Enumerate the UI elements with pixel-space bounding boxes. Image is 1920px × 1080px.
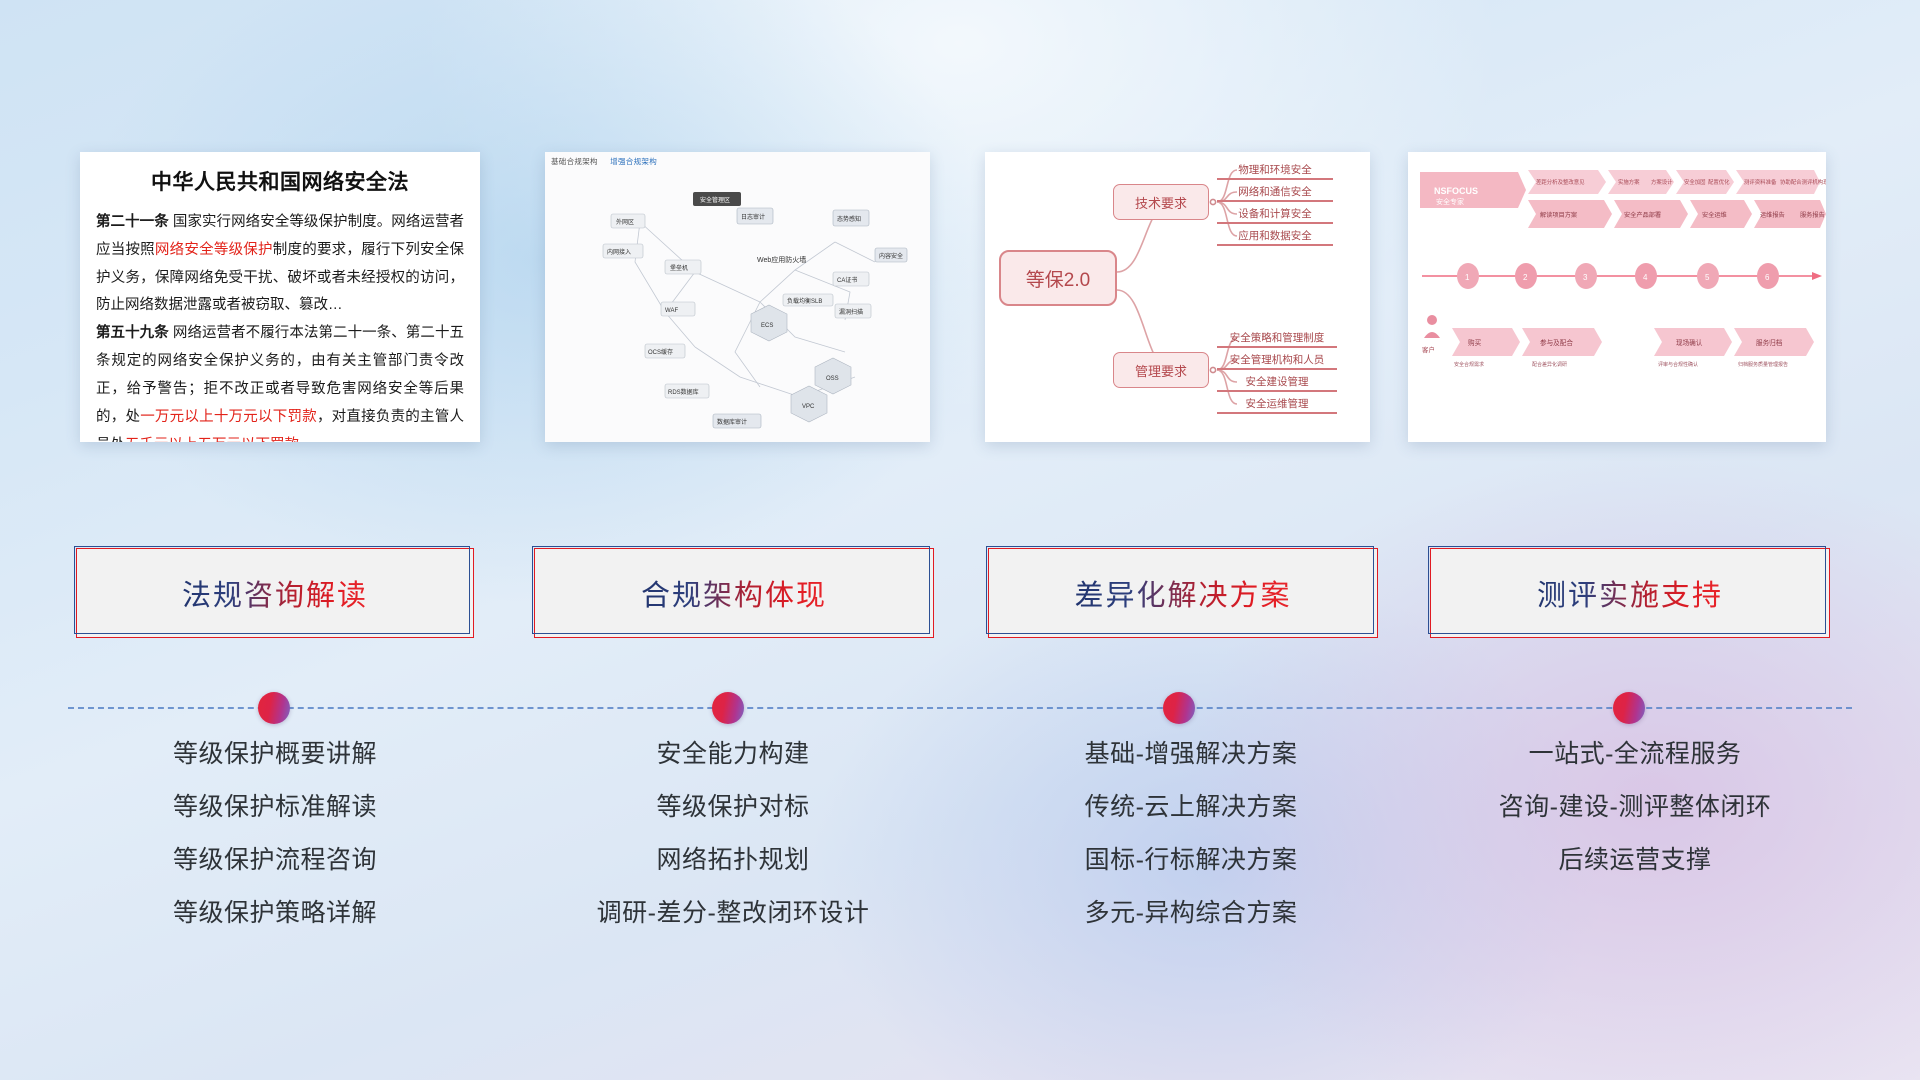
law-card: 中华人民共和国网络安全法 第二十一条 国家实行网络安全等级保护制度。网络运营者应… <box>80 152 480 442</box>
svg-text:协助配合测评机构现场测评: 协助配合测评机构现场测评 <box>1780 178 1826 186</box>
timeline-dashed-line <box>68 707 1852 709</box>
svg-text:方案设计: 方案设计 <box>1651 178 1673 186</box>
mindmap-branch-mgmt: 管理要求 <box>1113 352 1209 388</box>
svg-text:内容安全: 内容安全 <box>879 252 903 260</box>
card-row: 中华人民共和国网络安全法 第二十一条 国家实行网络安全等级保护制度。网络运营者应… <box>0 0 1920 460</box>
article-number: 第二十一条 <box>96 214 169 230</box>
mindmap-leaf: 网络和通信安全 <box>1217 184 1333 202</box>
svg-text:6: 6 <box>1765 273 1770 282</box>
svg-text:服务报告: 服务报告 <box>1800 211 1825 219</box>
label-box-1-text: 法规咨询解读 <box>182 572 368 614</box>
roadmap-svg: NSFOCUS 安全专家 差距分析及整改意见 实施方案 方案设计 安全加固 配置… <box>1408 152 1826 442</box>
label-box-2[interactable]: 合规架构体现 <box>534 548 934 638</box>
arch-chip-label: 安全管理区 <box>700 196 730 204</box>
detail-item: 传统-云上解决方案 <box>986 795 1396 820</box>
label-box-4-wrap: 测评实施支持 <box>1430 548 1830 638</box>
svg-text:5: 5 <box>1705 273 1710 282</box>
svg-text:Web应用防火墙: Web应用防火墙 <box>757 255 806 264</box>
svg-text:安全加固: 安全加固 <box>1684 178 1706 186</box>
svg-text:CA证书: CA证书 <box>837 276 857 284</box>
architecture-card: 基础合规架构 增强合规架构 <box>545 152 930 442</box>
label-box-3[interactable]: 差异化解决方案 <box>988 548 1378 638</box>
svg-text:数据库审计: 数据库审计 <box>717 418 747 426</box>
architecture-svg: 安全管理区 外网区 内网接入 堡垒机 WAF 日志审计 <box>545 152 930 442</box>
detail-item: 一站式-全流程服务 <box>1430 742 1840 767</box>
svg-text:RDS数据库: RDS数据库 <box>668 388 699 396</box>
detail-columns: 等级保护概要讲解 等级保护标准解读 等级保护流程咨询 等级保护策略详解 安全能力… <box>0 742 1920 972</box>
detail-item: 调研-差分-整改闭环设计 <box>528 901 938 926</box>
svg-text:2: 2 <box>1523 273 1528 282</box>
svg-text:外网区: 外网区 <box>616 218 634 226</box>
detail-item: 网络拓扑规划 <box>528 848 938 873</box>
svg-text:实施方案: 实施方案 <box>1618 178 1640 186</box>
svg-text:参与及配合: 参与及配合 <box>1540 338 1573 347</box>
svg-text:漏洞扫描: 漏洞扫描 <box>839 308 863 316</box>
svg-text:堡垒机: 堡垒机 <box>670 264 688 272</box>
law-article-59: 第五十九条 网络运营者不履行本法第二十一条、第二十五条规定的网络安全保护义务的，… <box>96 320 464 442</box>
svg-text:运维报告: 运维报告 <box>1760 211 1785 219</box>
svg-text:归档服务质量管理报告: 归档服务质量管理报告 <box>1738 361 1788 368</box>
mindmap: 等保2.0 技术要求 管理要求 物理和环境安全 网络和通信安全 设备和计算安全 … <box>985 152 1370 442</box>
client-label: 客户 <box>1422 345 1435 354</box>
mindmap-branch-tech: 技术要求 <box>1113 184 1209 220</box>
svg-text:4: 4 <box>1643 273 1648 282</box>
svg-text:现场确认: 现场确认 <box>1676 338 1703 347</box>
detail-column-3: 基础-增强解决方案 传统-云上解决方案 国标-行标解决方案 多元-异构综合方案 <box>986 742 1396 954</box>
label-row: 法规咨询解读 合规架构体现 差异化解决方案 测评实施支持 <box>0 548 1920 652</box>
timeline-dot-3[interactable] <box>1163 692 1195 724</box>
svg-text:1: 1 <box>1465 273 1470 282</box>
mindmap-leaf: 安全策略和管理制度 <box>1217 330 1337 348</box>
mindmap-card: 等保2.0 技术要求 管理要求 物理和环境安全 网络和通信安全 设备和计算安全 … <box>985 152 1370 442</box>
svg-text:解读项目方案: 解读项目方案 <box>1540 211 1578 219</box>
svg-text:安全运维: 安全运维 <box>1702 211 1727 219</box>
svg-text:3: 3 <box>1583 273 1588 282</box>
label-box-4-text: 测评实施支持 <box>1537 572 1723 614</box>
detail-item: 基础-增强解决方案 <box>986 742 1396 767</box>
svg-text:配合差异化调研: 配合差异化调研 <box>1532 361 1567 368</box>
detail-item: 国标-行标解决方案 <box>986 848 1396 873</box>
architecture-diagram: 基础合规架构 增强合规架构 <box>545 152 930 442</box>
label-box-1-wrap: 法规咨询解读 <box>76 548 474 638</box>
slide-canvas: 中华人民共和国网络安全法 第二十一条 国家实行网络安全等级保护制度。网络运营者应… <box>0 0 1920 1080</box>
mindmap-leaf: 设备和计算安全 <box>1217 206 1333 224</box>
svg-text:OSS: OSS <box>826 376 839 382</box>
svg-text:OCS缓存: OCS缓存 <box>648 348 673 356</box>
timeline-dot-2[interactable] <box>712 692 744 724</box>
law-content: 中华人民共和国网络安全法 第二十一条 国家实行网络安全等级保护制度。网络运营者应… <box>80 152 480 442</box>
law-body: 第二十一条 国家实行网络安全等级保护制度。网络运营者应当按照网络安全等级保护制度… <box>96 209 464 442</box>
law-title: 中华人民共和国网络安全法 <box>96 166 464 196</box>
svg-text:评审与合规性确认: 评审与合规性确认 <box>1658 361 1698 368</box>
mindmap-leaf: 安全运维管理 <box>1217 396 1337 414</box>
label-box-1[interactable]: 法规咨询解读 <box>76 548 474 638</box>
article-highlight: 一万元以上十万元以下罚款 <box>140 409 317 425</box>
svg-text:配置优化: 配置优化 <box>1708 178 1730 186</box>
roadmap-card: NSFOCUS 安全专家 差距分析及整改意见 实施方案 方案设计 安全加固 配置… <box>1408 152 1826 442</box>
svg-text:负载均衡SLB: 负载均衡SLB <box>787 297 822 305</box>
mindmap-leaf: 安全管理机构和人员 <box>1217 352 1337 370</box>
svg-text:安全合规需求: 安全合规需求 <box>1454 361 1484 368</box>
mindmap-root: 等保2.0 <box>999 250 1117 306</box>
brand-sub-label: 安全专家 <box>1436 197 1464 206</box>
detail-item: 等级保护策略详解 <box>70 901 480 926</box>
label-box-3-wrap: 差异化解决方案 <box>988 548 1378 638</box>
timeline <box>0 688 1920 728</box>
label-box-4[interactable]: 测评实施支持 <box>1430 548 1830 638</box>
detail-column-4: 一站式-全流程服务 咨询-建设-测评整体闭环 后续运营支撑 <box>1430 742 1840 901</box>
detail-item: 后续运营支撑 <box>1430 848 1840 873</box>
law-article-21: 第二十一条 国家实行网络安全等级保护制度。网络运营者应当按照网络安全等级保护制度… <box>96 209 464 320</box>
detail-item: 等级保护对标 <box>528 795 938 820</box>
article-highlight: 网络安全等级保护 <box>155 242 273 258</box>
roadmap-diagram: NSFOCUS 安全专家 差距分析及整改意见 实施方案 方案设计 安全加固 配置… <box>1408 152 1826 442</box>
detail-column-1: 等级保护概要讲解 等级保护标准解读 等级保护流程咨询 等级保护策略详解 <box>70 742 480 954</box>
timeline-dot-4[interactable] <box>1613 692 1645 724</box>
svg-text:态势感知: 态势感知 <box>837 215 861 223</box>
detail-column-2: 安全能力构建 等级保护对标 网络拓扑规划 调研-差分-整改闭环设计 <box>528 742 938 954</box>
mindmap-leaf: 应用和数据安全 <box>1217 228 1333 246</box>
article-number: 第五十九条 <box>96 325 169 341</box>
svg-text:VPC: VPC <box>802 404 815 410</box>
label-box-2-text: 合规架构体现 <box>641 572 827 614</box>
detail-item: 咨询-建设-测评整体闭环 <box>1430 795 1840 820</box>
label-box-3-text: 差异化解决方案 <box>1074 572 1291 614</box>
svg-text:测评资料准备: 测评资料准备 <box>1744 178 1777 186</box>
detail-item: 等级保护流程咨询 <box>70 848 480 873</box>
article-highlight-2: 五千元以上五万元以下罚款。 <box>125 437 314 442</box>
svg-text:购买: 购买 <box>1468 338 1482 347</box>
svg-text:WAF: WAF <box>665 308 678 314</box>
label-box-2-wrap: 合规架构体现 <box>534 548 934 638</box>
svg-text:差距分析及整改意见: 差距分析及整改意见 <box>1536 178 1585 186</box>
mindmap-leaf: 物理和环境安全 <box>1217 162 1333 180</box>
svg-text:ECS: ECS <box>761 323 773 329</box>
mindmap-leaf: 安全建设管理 <box>1217 374 1337 392</box>
svg-text:安全产品部署: 安全产品部署 <box>1624 211 1661 219</box>
detail-item: 等级保护概要讲解 <box>70 742 480 767</box>
brand-label: NSFOCUS <box>1434 186 1478 196</box>
detail-item: 安全能力构建 <box>528 742 938 767</box>
svg-text:内网接入: 内网接入 <box>607 248 631 256</box>
svg-text:日志审计: 日志审计 <box>741 213 765 221</box>
detail-item: 等级保护标准解读 <box>70 795 480 820</box>
svg-text:服务归档: 服务归档 <box>1756 338 1783 347</box>
detail-item: 多元-异构综合方案 <box>986 901 1396 926</box>
timeline-dot-1[interactable] <box>258 692 290 724</box>
